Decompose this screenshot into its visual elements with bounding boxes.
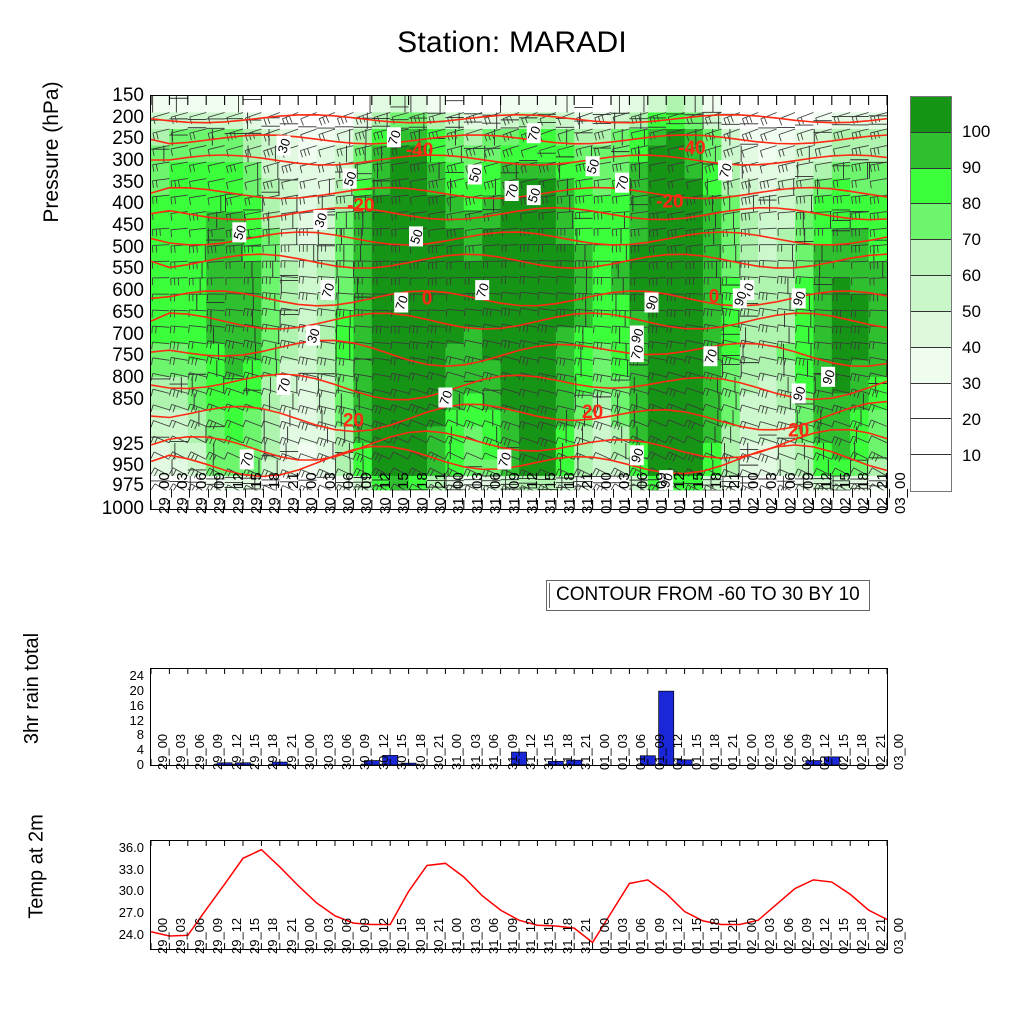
main-y-tick: 700 (84, 325, 144, 344)
rain-x-tick: 29_21 (284, 734, 299, 770)
main-x-tick: 02_18 (855, 472, 872, 514)
temp-y-axis-label: Temp at 2m (26, 752, 49, 982)
main-x-tick: 31_12 (524, 472, 541, 514)
colorbar-band (911, 97, 951, 133)
rain-x-tick: 02_15 (836, 734, 851, 770)
main-y-tick: 550 (84, 259, 144, 278)
temp-x-tick: 29_00 (155, 918, 170, 954)
main-x-tick: 31_21 (579, 472, 596, 514)
temp-x-tick: 31_03 (468, 918, 483, 954)
rain-y-tick: 24 (98, 669, 144, 682)
svg-text:0: 0 (422, 289, 433, 310)
main-y-tick: 925 (84, 435, 144, 454)
rain-x-tick: 31_00 (449, 734, 464, 770)
rain-x-tick: 01_06 (633, 734, 648, 770)
colorbar-tick-label: 60 (962, 266, 981, 286)
main-y-tick: 975 (84, 476, 144, 495)
temp-x-tick: 30_12 (376, 918, 391, 954)
rain-x-tick: 01_12 (670, 734, 685, 770)
weather-sounding-page: Station: MARADI Pressure (hPa) 150200250… (0, 0, 1024, 1024)
temp-x-tick: 29_21 (284, 918, 299, 954)
rain-x-tick: 29_18 (265, 734, 280, 770)
colorbar-band (911, 133, 951, 169)
rain-x-tick: 29_03 (173, 734, 188, 770)
rain-x-tick: 29_12 (229, 734, 244, 770)
main-y-tick: 450 (84, 216, 144, 235)
main-x-tick: 02_12 (818, 472, 835, 514)
main-x-tick: 29_03 (174, 472, 191, 514)
main-y-tick: 250 (84, 129, 144, 148)
main-x-tick: 30_09 (358, 472, 375, 514)
temp-x-tick: 30_21 (431, 918, 446, 954)
main-x-tick: 29_15 (248, 472, 265, 514)
rain-y-tick: 4 (98, 743, 144, 756)
main-x-tick: 02_15 (837, 472, 854, 514)
main-y-tick: 800 (84, 368, 144, 387)
main-x-tick: 30_21 (432, 472, 449, 514)
page-title: Station: MARADI (0, 26, 1024, 60)
temp-x-tick: 30_18 (413, 918, 428, 954)
main-y-tick: 350 (84, 173, 144, 192)
rain-x-tick: 30_09 (357, 734, 372, 770)
svg-text:0: 0 (709, 287, 720, 308)
temp-x-tick: 29_03 (173, 918, 188, 954)
rain-x-tick: 01_15 (689, 734, 704, 770)
temp-x-tick: 29_09 (210, 918, 225, 954)
rain-x-tick: 02_06 (781, 734, 796, 770)
rain-x-axis-ticks: 29_0029_0329_0629_0929_1229_1529_1829_21… (150, 768, 888, 826)
temp-x-tick: 02_03 (762, 918, 777, 954)
rain-x-tick: 31_21 (578, 734, 593, 770)
rain-y-tick: 0 (98, 758, 144, 771)
main-x-tick: 30_00 (303, 472, 320, 514)
main-x-tick: 29_00 (156, 472, 173, 514)
main-y-tick: 400 (84, 194, 144, 213)
colorbar-band (911, 240, 951, 276)
temp-x-tick: 01_03 (615, 918, 630, 954)
rain-y-tick: 20 (98, 684, 144, 697)
main-x-tick: 29_09 (211, 472, 228, 514)
temp-x-tick: 02_12 (817, 918, 832, 954)
temp-x-tick: 03_00 (891, 918, 906, 954)
temp-x-tick: 02_06 (781, 918, 796, 954)
main-x-tick: 02_00 (745, 472, 762, 514)
temp-x-tick: 31_12 (523, 918, 538, 954)
temp-x-tick: 01_18 (707, 918, 722, 954)
main-x-tick: 30_12 (377, 472, 394, 514)
temp-x-tick: 02_09 (799, 918, 814, 954)
colorbar-band (911, 348, 951, 384)
contour-caption: CONTOUR FROM -60 TO 30 BY 10 (546, 580, 870, 611)
rain-y-tick: 16 (98, 699, 144, 712)
rain-x-tick: 31_06 (486, 734, 501, 770)
rain-y-tick: 12 (98, 714, 144, 727)
main-x-tick: 01_03 (616, 472, 633, 514)
svg-text:-40: -40 (406, 140, 433, 161)
main-y-tick: 950 (84, 456, 144, 475)
main-x-tick: 31_06 (487, 472, 504, 514)
svg-text:20: 20 (343, 410, 364, 431)
rain-x-tick: 01_09 (652, 734, 667, 770)
rain-x-tick: 03_00 (891, 734, 906, 770)
main-x-tick: 29_21 (285, 472, 302, 514)
main-y-axis-ticks: 1502002503003504004505005506006507007508… (78, 95, 144, 510)
rain-x-tick: 30_00 (302, 734, 317, 770)
rain-x-tick: 30_21 (431, 734, 446, 770)
humidity-cross-section-plot[interactable]: -40-40-20-200020202030303050505050505070… (150, 95, 888, 510)
temp-x-tick: 01_12 (670, 918, 685, 954)
rain-x-tick: 02_00 (744, 734, 759, 770)
temp-x-tick: 31_06 (486, 918, 501, 954)
colorbar-tick-label: 50 (962, 302, 981, 322)
main-x-tick: 03_00 (892, 472, 909, 514)
temp-x-tick: 01_06 (633, 918, 648, 954)
main-y-tick: 500 (84, 238, 144, 257)
rain-x-tick: 31_18 (560, 734, 575, 770)
main-x-tick: 01_21 (726, 472, 743, 514)
main-x-tick: 02_06 (782, 472, 799, 514)
temp-x-tick: 30_15 (394, 918, 409, 954)
colorbar-band (911, 204, 951, 240)
rain-x-tick: 02_09 (799, 734, 814, 770)
humidity-colorbar (910, 96, 952, 492)
colorbar-tick-label: 90 (962, 158, 981, 178)
temp-x-tick: 02_00 (744, 918, 759, 954)
rain-x-tick: 01_03 (615, 734, 630, 770)
colorbar-tick-label: 70 (962, 230, 981, 250)
svg-text:-20: -20 (347, 196, 374, 217)
main-y-tick: 750 (84, 346, 144, 365)
main-y-tick: 1000 (84, 499, 144, 518)
colorbar-band (911, 384, 951, 420)
colorbar-band (911, 455, 951, 491)
temp-x-tick: 29_06 (192, 918, 207, 954)
main-x-tick: 01_18 (708, 472, 725, 514)
rain-x-tick: 02_03 (762, 734, 777, 770)
temp-x-tick: 02_21 (873, 918, 888, 954)
main-x-tick: 30_06 (340, 472, 357, 514)
main-x-tick: 29_12 (230, 472, 247, 514)
svg-text:20: 20 (582, 402, 603, 423)
colorbar-band (911, 312, 951, 348)
rain-x-tick: 02_18 (854, 734, 869, 770)
rain-x-tick: 29_09 (210, 734, 225, 770)
rain-x-tick: 01_00 (597, 734, 612, 770)
rain-x-tick: 31_03 (468, 734, 483, 770)
cross-section-svg: -40-40-20-200020202030303050505050505070… (151, 96, 887, 509)
temp-x-tick: 29_15 (247, 918, 262, 954)
temp-x-tick: 02_15 (836, 918, 851, 954)
main-x-tick: 31_15 (542, 472, 559, 514)
main-x-tick: 01_12 (671, 472, 688, 514)
rain-x-tick: 29_00 (155, 734, 170, 770)
main-x-tick: 29_18 (266, 472, 283, 514)
main-y-tick: 650 (84, 303, 144, 322)
main-y-tick: 850 (84, 390, 144, 409)
temp-x-tick: 01_15 (689, 918, 704, 954)
rain-x-tick: 02_21 (873, 734, 888, 770)
colorbar-labels: 100908070605040302010 (962, 96, 1024, 496)
rain-x-tick: 30_12 (376, 734, 391, 770)
rain-x-tick: 31_15 (541, 734, 556, 770)
main-x-tick: 30_15 (395, 472, 412, 514)
temp-y-tick: 24.0 (88, 928, 144, 941)
main-y-tick: 600 (84, 281, 144, 300)
main-x-axis-ticks: 29_0029_0329_0629_0929_1229_1529_1829_21… (150, 512, 888, 582)
main-x-tick: 31_00 (450, 472, 467, 514)
colorbar-band (911, 419, 951, 455)
temp-x-tick: 30_06 (339, 918, 354, 954)
main-y-tick: 200 (84, 108, 144, 127)
temp-y-tick: 36.0 (88, 841, 144, 854)
temp-x-tick: 01_09 (652, 918, 667, 954)
rain-x-tick: 31_12 (523, 734, 538, 770)
main-x-tick: 30_03 (322, 472, 339, 514)
temp-x-tick: 29_18 (265, 918, 280, 954)
colorbar-tick-label: 10 (962, 446, 981, 466)
rain-x-tick: 31_09 (505, 734, 520, 770)
main-y-tick: 300 (84, 151, 144, 170)
rain-y-tick: 8 (98, 728, 144, 741)
temp-y-tick: 27.0 (88, 906, 144, 919)
rain-x-tick: 30_18 (413, 734, 428, 770)
main-x-tick: 02_03 (763, 472, 780, 514)
colorbar-tick-label: 30 (962, 374, 981, 394)
temp-x-tick: 31_18 (560, 918, 575, 954)
svg-text:-40: -40 (678, 138, 705, 159)
rain-x-tick: 01_21 (725, 734, 740, 770)
temp-y-tick: 30.0 (88, 884, 144, 897)
main-x-tick: 01_06 (634, 472, 651, 514)
temp-y-axis-ticks: 36.033.030.027.024.0 (86, 834, 144, 956)
temp-x-tick: 31_00 (449, 918, 464, 954)
main-x-tick: 30_18 (414, 472, 431, 514)
temp-x-tick: 01_00 (597, 918, 612, 954)
rain-x-tick: 30_15 (394, 734, 409, 770)
main-x-tick: 02_09 (800, 472, 817, 514)
svg-text:-20: -20 (656, 192, 683, 213)
main-x-tick: 02_21 (874, 472, 891, 514)
temp-x-tick: 31_09 (505, 918, 520, 954)
temp-x-tick: 30_09 (357, 918, 372, 954)
temp-x-axis-ticks: 29_0029_0329_0629_0929_1229_1529_1829_21… (150, 952, 888, 1010)
colorbar-tick-label: 80 (962, 194, 981, 214)
main-x-tick: 31_03 (469, 472, 486, 514)
temp-x-tick: 31_15 (541, 918, 556, 954)
rain-x-tick: 02_12 (817, 734, 832, 770)
temp-x-tick: 30_03 (321, 918, 336, 954)
rain-x-tick: 30_03 (321, 734, 336, 770)
colorbar-band (911, 276, 951, 312)
colorbar-band (911, 169, 951, 205)
temp-x-tick: 02_18 (854, 918, 869, 954)
main-x-tick: 31_18 (561, 472, 578, 514)
colorbar-tick-label: 20 (962, 410, 981, 430)
rain-x-tick: 29_15 (247, 734, 262, 770)
rain-x-tick: 29_06 (192, 734, 207, 770)
main-y-tick: 150 (84, 86, 144, 105)
main-y-axis-label: Pressure (hPa) (40, 32, 64, 272)
rain-x-tick: 01_18 (707, 734, 722, 770)
main-x-tick: 31_09 (506, 472, 523, 514)
temp-x-tick: 30_00 (302, 918, 317, 954)
main-x-tick: 01_15 (690, 472, 707, 514)
temp-x-tick: 01_21 (725, 918, 740, 954)
temp-x-tick: 31_21 (578, 918, 593, 954)
temp-y-tick: 33.0 (88, 863, 144, 876)
main-x-tick: 01_09 (653, 472, 670, 514)
rain-y-axis-ticks: 24201612840 (96, 662, 144, 772)
main-x-tick: 29_06 (193, 472, 210, 514)
colorbar-tick-label: 40 (962, 338, 981, 358)
rain-x-tick: 30_06 (339, 734, 354, 770)
svg-text:20: 20 (788, 421, 809, 442)
temp-x-tick: 29_12 (229, 918, 244, 954)
colorbar-tick-label: 100 (962, 122, 990, 142)
main-x-tick: 01_00 (598, 472, 615, 514)
